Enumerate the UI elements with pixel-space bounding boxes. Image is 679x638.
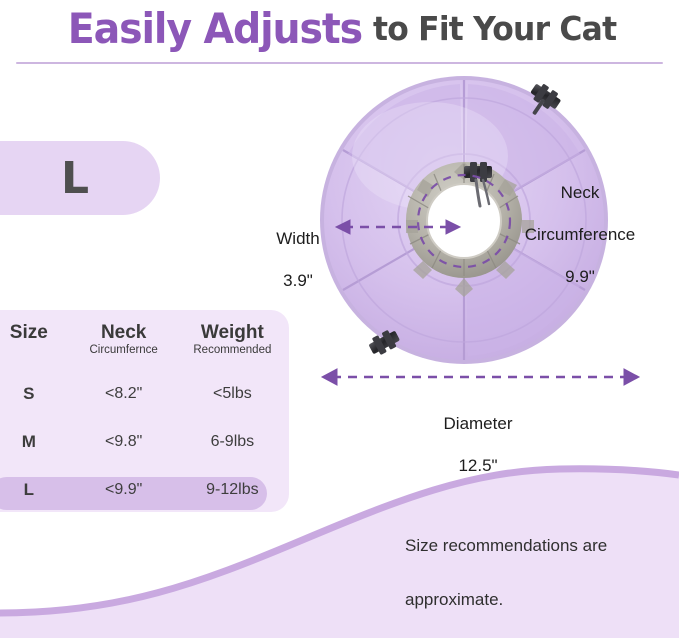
neck-annotation-label-1: Neck bbox=[505, 182, 655, 203]
table-header-row: Size Neck Circumfernce Weight Recommende… bbox=[0, 310, 289, 370]
column-header-weight-label: Weight bbox=[177, 322, 288, 343]
diameter-annotation-label: Diameter bbox=[403, 413, 553, 434]
cell-size: S bbox=[0, 370, 72, 418]
neck-annotation-value: 9.9" bbox=[505, 266, 655, 287]
width-annotation-value: 3.9" bbox=[262, 270, 334, 291]
footer-note-line-1: Size recommendations are bbox=[405, 532, 673, 559]
footer-note-line-2: approximate. bbox=[405, 586, 673, 613]
neck-annotation-label-2: Circumference bbox=[505, 224, 655, 245]
width-annotation: Width 3.9" bbox=[262, 207, 334, 312]
column-header-neck: Neck Circumfernce bbox=[72, 310, 176, 370]
column-header-weight: Weight Recommended bbox=[176, 310, 289, 370]
diameter-arrow bbox=[322, 369, 639, 385]
footer-note: Size recommendations are approximate. Us… bbox=[405, 505, 673, 638]
page-title-accent: Easily Adjusts bbox=[68, 4, 362, 53]
neck-annotation: Neck Circumference 9.9" bbox=[505, 161, 655, 308]
size-badge-label: L bbox=[31, 153, 89, 204]
header-divider bbox=[16, 62, 663, 64]
column-header-size-label: Size bbox=[0, 322, 71, 343]
cell-weight: 6-9lbs bbox=[176, 418, 289, 466]
cell-neck: <8.2" bbox=[72, 370, 176, 418]
column-header-neck-sublabel: Circumfernce bbox=[73, 343, 175, 358]
page-title: Easily Adjusts to Fit Your Cat bbox=[0, 2, 679, 54]
size-badge: L bbox=[0, 141, 160, 215]
cell-size: M bbox=[0, 418, 72, 466]
width-annotation-label: Width bbox=[262, 228, 334, 249]
column-header-weight-sublabel: Recommended bbox=[177, 343, 288, 358]
page-title-rest: to Fit Your Cat bbox=[373, 9, 616, 48]
column-header-neck-label: Neck bbox=[73, 322, 175, 343]
table-row: S <8.2" <5lbs bbox=[0, 370, 289, 418]
table-row: M <9.8" 6-9lbs bbox=[0, 418, 289, 466]
cell-neck: <9.8" bbox=[72, 418, 176, 466]
product-infographic: Easily Adjusts to Fit Your Cat L Size Ne… bbox=[0, 0, 679, 638]
cell-weight: <5lbs bbox=[176, 370, 289, 418]
column-header-size: Size bbox=[0, 310, 72, 370]
